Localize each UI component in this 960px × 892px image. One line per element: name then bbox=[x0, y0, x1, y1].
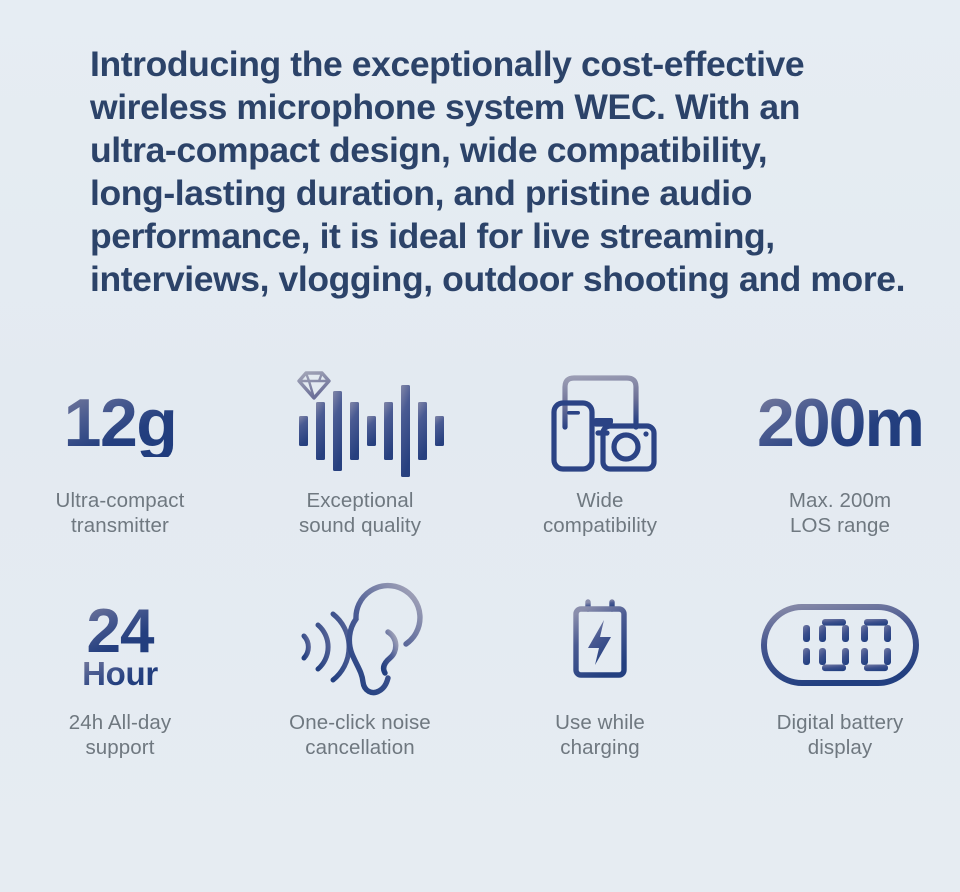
stat-200m: 200m bbox=[757, 389, 923, 457]
feature-caption: Digital battery display bbox=[777, 710, 904, 760]
caption-line: Digital battery bbox=[777, 710, 904, 735]
feature-wide-compatibility: Wide compatibility bbox=[480, 368, 720, 590]
caption-line: Exceptional bbox=[299, 488, 421, 513]
feature-caption: 24h All-day support bbox=[69, 710, 172, 760]
feature-art bbox=[760, 590, 920, 700]
headline-line-1: Introducing the exceptionally cost-effec… bbox=[90, 43, 930, 86]
feature-exceptional-sound-quality: Exceptional sound quality bbox=[240, 368, 480, 590]
lightning-bolt-icon bbox=[588, 620, 611, 665]
feature-one-click-noise-cancellation: One-click noise cancellation bbox=[240, 590, 480, 812]
caption-line: display bbox=[777, 735, 904, 760]
stat-24-value: 24 bbox=[82, 601, 158, 663]
seven-segment-digit-0-b bbox=[861, 619, 891, 671]
digital-battery-100-icon bbox=[760, 599, 920, 691]
caption-line: 24h All-day bbox=[69, 710, 172, 735]
feature-grid: 12g Ultra-compact transmitter bbox=[0, 368, 960, 812]
feature-caption: Max. 200m LOS range bbox=[789, 488, 891, 538]
feature-art bbox=[559, 590, 641, 700]
battery-pill-outline bbox=[764, 607, 916, 683]
sound-waveform-gem-icon bbox=[285, 369, 435, 477]
infographic-page: Introducing the exceptionally cost-effec… bbox=[0, 0, 960, 892]
feature-use-while-charging: Use while charging bbox=[480, 590, 720, 812]
sound-wave-arcs bbox=[304, 614, 349, 680]
feature-art: 200m bbox=[757, 368, 923, 478]
headline-line-2: wireless microphone system WEC. With an bbox=[90, 86, 930, 129]
feature-caption: Wide compatibility bbox=[543, 488, 657, 538]
gem-icon bbox=[299, 373, 329, 398]
ear-sound-waves-icon bbox=[296, 592, 424, 698]
headline-line-4: long-lasting duration, and pristine audi… bbox=[90, 172, 930, 215]
feature-caption: One-click noise cancellation bbox=[289, 710, 431, 760]
caption-line: Max. 200m bbox=[789, 488, 891, 513]
stat-24-unit: Hour bbox=[82, 657, 158, 690]
caption-line: sound quality bbox=[299, 513, 421, 538]
caption-line: compatibility bbox=[543, 513, 657, 538]
headline-line-6: interviews, vlogging, outdoor shooting a… bbox=[90, 258, 930, 301]
seven-segment-digit-0-a bbox=[819, 619, 849, 671]
feature-digital-battery-display: Digital battery display bbox=[720, 590, 960, 812]
headline: Introducing the exceptionally cost-effec… bbox=[90, 43, 930, 301]
caption-line: charging bbox=[555, 735, 645, 760]
caption-line: support bbox=[69, 735, 172, 760]
caption-line: transmitter bbox=[56, 513, 185, 538]
feature-art bbox=[285, 368, 435, 478]
phone-camera-icon bbox=[541, 371, 659, 475]
headline-line-5: performance, it is ideal for live stream… bbox=[90, 215, 930, 258]
headline-line-3: ultra-compact design, wide compatibility… bbox=[90, 129, 930, 172]
feature-art: 24 Hour bbox=[82, 590, 158, 700]
camera-icon bbox=[594, 418, 654, 469]
battery-charging-plug-icon bbox=[559, 591, 641, 699]
ear-outline bbox=[349, 586, 420, 693]
feature-caption: Ultra-compact transmitter bbox=[56, 488, 185, 538]
caption-line: Wide bbox=[543, 488, 657, 513]
seven-segment-digit-1 bbox=[803, 625, 810, 665]
waveform-bars bbox=[299, 385, 444, 477]
caption-line: LOS range bbox=[789, 513, 891, 538]
feature-ultra-compact-transmitter: 12g Ultra-compact transmitter bbox=[0, 368, 240, 590]
feature-art: 12g bbox=[64, 368, 177, 478]
caption-line: One-click noise bbox=[289, 710, 431, 735]
feature-all-day-support: 24 Hour 24h All-day support bbox=[0, 590, 240, 812]
caption-line: cancellation bbox=[289, 735, 431, 760]
feature-caption: Use while charging bbox=[555, 710, 645, 760]
phone-icon bbox=[554, 403, 592, 469]
caption-line: Use while bbox=[555, 710, 645, 735]
feature-art bbox=[541, 368, 659, 478]
stat-12g: 12g bbox=[64, 389, 177, 457]
feature-max-los-range: 200m Max. 200m LOS range bbox=[720, 368, 960, 590]
caption-line: Ultra-compact bbox=[56, 488, 185, 513]
stat-24-hour: 24 Hour bbox=[82, 601, 158, 690]
feature-caption: Exceptional sound quality bbox=[299, 488, 421, 538]
feature-art bbox=[296, 590, 424, 700]
